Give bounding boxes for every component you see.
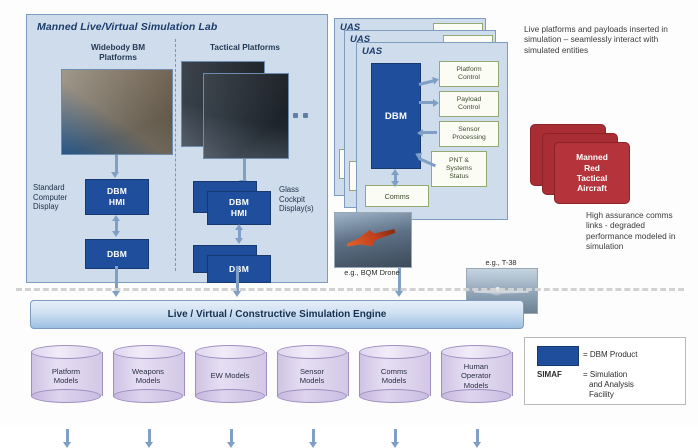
model-store-ew-label: EW Models [195, 359, 265, 393]
uas-dbm-box: DBM [371, 63, 421, 169]
simulation-engine-bar: Live / Virtual / Constructive Simulation… [30, 300, 524, 329]
model-store-sensor: Sensor Models [277, 345, 349, 403]
manned-simulation-lab-panel: Manned Live/Virtual Simulation Lab Wideb… [26, 14, 328, 283]
legend-simaf-key: SIMAF [537, 370, 562, 380]
legend-simaf-text-line1: = Simulation [583, 370, 627, 380]
t38-caption: e.g., T-38 [462, 258, 540, 267]
widebody-operator-photo [61, 69, 173, 155]
cockpit-photo-front [203, 73, 289, 159]
dbm-hmi-right-line2: HMI [231, 208, 247, 219]
manned-red-line2: Red [584, 163, 600, 173]
widebody-heading-line2: Platforms [99, 53, 137, 62]
live-platforms-note: Live platforms and payloads inserted in … [524, 24, 676, 55]
uas-label-front: UAS [362, 46, 382, 57]
live-virtual-divider [16, 288, 684, 291]
bqm-drone-photo [334, 212, 412, 268]
platform-control-box: Platform Control [439, 61, 499, 87]
manned-red-line1: Manned [576, 152, 608, 162]
pnt-systems-status-box: PNT & Systems Status [431, 151, 487, 187]
legend-simaf-text-line3: Facility [589, 390, 614, 400]
manned-red-card-front: Manned Red Tactical Aircraft [554, 142, 630, 204]
decor-square-2 [303, 113, 308, 118]
dbm-hmi-right-line1: DBM [229, 197, 249, 208]
widebody-heading-line1: Widebody BM [91, 43, 145, 52]
legend-simaf-text-line2: and Analysis [589, 380, 634, 390]
manned-red-line4: Aircraft [577, 183, 607, 193]
sensor-processing-box: Sensor Processing [439, 121, 499, 147]
manned-red-line3: Tactical [577, 173, 608, 183]
glass-cockpit-display-label: Glass Cockpit Display(s) [279, 185, 325, 214]
dbm-hmi-box-left: DBM HMI [85, 179, 149, 215]
dbm-hmi-box-right: DBM HMI [207, 191, 271, 225]
dbm-box-right: DBM [207, 255, 271, 283]
model-store-ew: EW Models [195, 345, 267, 403]
widebody-column-heading: Widebody BM Platforms [63, 43, 173, 63]
model-store-human-operator-label: Human Operator Models [441, 359, 511, 393]
model-store-platform-label: Platform Models [31, 359, 101, 393]
diagram-canvas: Manned Live/Virtual Simulation Lab Wideb… [0, 0, 698, 425]
uas-card-front: UAS DBM Platform Control Payload Control… [356, 42, 508, 220]
legend-dbm-product-text: = DBM Product [583, 350, 637, 360]
model-store-human-operator: Human Operator Models [441, 345, 513, 403]
uas-comms-box: Comms [365, 185, 429, 207]
legend-box: = DBM Product SIMAF = Simulation and Ana… [524, 337, 686, 405]
model-store-platform: Platform Models [31, 345, 103, 403]
decor-square-1 [293, 113, 298, 118]
comms-links-note: High assurance comms links - degraded pe… [586, 210, 682, 252]
tactical-column-heading: Tactical Platforms [185, 43, 305, 53]
payload-control-box: Payload Control [439, 91, 499, 117]
dbm-box-left: DBM [85, 239, 149, 269]
dbm-hmi-left-line2: HMI [109, 197, 125, 208]
column-divider [175, 39, 176, 271]
dbm-product-swatch [537, 346, 579, 366]
dbm-hmi-left-line1: DBM [107, 186, 127, 197]
model-store-comms-label: Comms Models [359, 359, 429, 393]
model-store-weapons-label: Weapons Models [113, 359, 183, 393]
bqm-drone-caption: e.g., BQM Drone [326, 268, 418, 277]
manned-lab-title: Manned Live/Virtual Simulation Lab [37, 21, 217, 33]
model-store-comms: Comms Models [359, 345, 431, 403]
model-store-sensor-label: Sensor Models [277, 359, 347, 393]
model-store-weapons: Weapons Models [113, 345, 185, 403]
standard-computer-display-label: Standard Computer Display [33, 183, 73, 212]
